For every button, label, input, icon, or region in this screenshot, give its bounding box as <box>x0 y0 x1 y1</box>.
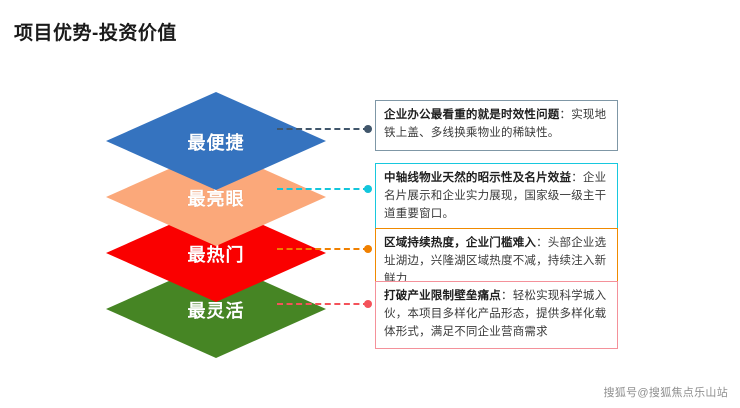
diamond-label-1: 最便捷 <box>188 129 245 155</box>
watermark-text: 搜狐号@搜狐焦点乐山站 <box>604 384 728 400</box>
callout-lead-1: 企业办公最看重的就是时效性问题 <box>384 109 560 121</box>
callout-lead-4: 打破产业限制壁垒痛点 <box>384 290 501 302</box>
endpoint-dot-icon <box>364 125 372 133</box>
dashed-line-icon <box>277 188 369 190</box>
connector-line-4 <box>277 303 369 305</box>
callout-box-4: 打破产业限制壁垒痛点：轻松实现科学城入伙，本项目多样化产品形态，提供多样化载体形… <box>375 281 618 349</box>
callout-lead-3: 区域持续热度，企业门槛难入 <box>384 237 536 249</box>
connector-line-1 <box>277 128 369 130</box>
endpoint-dot-icon <box>364 245 372 253</box>
slide-canvas: 项目优势-投资价值 最便捷 最亮眼 最热门 最灵活 企业办公最看重的就是时效性问… <box>0 0 740 408</box>
dashed-line-icon <box>277 128 369 130</box>
diamond-item-1[interactable]: 最便捷 <box>106 92 326 190</box>
endpoint-dot-icon <box>364 300 372 308</box>
connector-line-3 <box>277 248 369 250</box>
dashed-line-icon <box>277 248 369 250</box>
callout-lead-2: 中轴线物业天然的昭示性及名片效益 <box>384 172 571 184</box>
callout-box-2: 中轴线物业天然的昭示性及名片效益：企业名片展示和企业实力展现，国家级一级主干道重… <box>375 163 618 231</box>
page-title: 项目优势-投资价值 <box>14 18 177 45</box>
dashed-line-icon <box>277 303 369 305</box>
callout-box-1: 企业办公最看重的就是时效性问题：实现地铁上盖、多线换乘物业的稀缺性。 <box>375 100 618 151</box>
connector-line-2 <box>277 188 369 190</box>
endpoint-dot-icon <box>364 185 372 193</box>
